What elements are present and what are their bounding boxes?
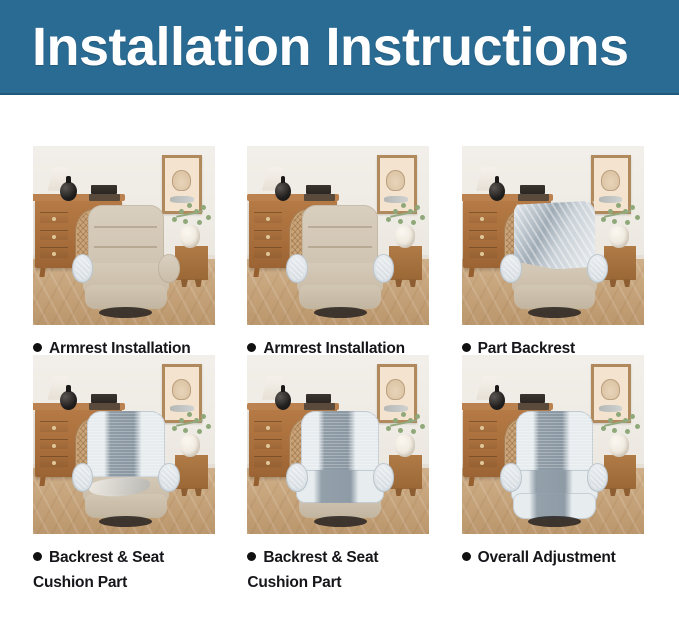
step-cell-5: Backrest & Seat Cushion Part [232,340,446,592]
chair-armrest-left [500,254,521,283]
chair-armrest-right [158,463,179,492]
chair-armrest-left [72,254,93,283]
drawer [40,439,68,450]
side-table [389,246,422,280]
room-scene [462,146,644,325]
drawer [40,247,68,258]
steps-grid: Armrest Installation [0,97,679,637]
room-scene [33,355,215,534]
book-stack [89,394,120,410]
seat-cushion-cover [296,470,384,503]
drawer [254,456,282,467]
drawer [40,456,68,467]
chair-base [514,285,596,309]
side-table [604,455,637,489]
drawer [40,421,68,432]
book-stack [89,185,120,201]
step-image-6 [462,355,644,534]
chair-armrest-right [587,463,608,492]
step-image-4 [33,355,215,534]
recliner-chair [289,414,391,525]
black-vase [60,182,76,202]
chair-armrest-right [158,254,179,283]
book-stack [518,394,549,410]
step-image-5 [247,355,429,534]
step-image-2 [247,146,429,325]
side-table [175,246,208,280]
backrest-cover [516,411,593,478]
backrest-cover [301,411,378,478]
chair-armrest-left [286,254,307,283]
chair-base [85,494,167,518]
step-cell-4: Backrest & Seat Cushion Part [18,340,232,592]
room-scene [247,146,429,325]
chair-armrest-right [373,254,394,283]
header-banner: Installation Instructions [0,0,679,95]
room-scene [33,146,215,325]
step-caption-text: Backrest & Seat Cushion Part [33,549,164,591]
step-cell-2: Armrest Installation [232,97,446,340]
step-caption-text: Backrest & Seat Cushion Part [247,549,378,591]
black-vase [60,391,76,411]
step-cell-1: Armrest Installation [18,97,232,340]
side-table [604,246,637,280]
recliner-chair [75,414,177,525]
page-title: Installation Instructions [0,20,629,74]
room-scene [462,355,644,534]
step-image-3 [462,146,644,325]
step-caption-4: Backrest & Seat Cushion Part [33,545,217,595]
step-caption-6: Overall Adjustment [462,545,646,570]
chair-base [85,285,167,309]
drawer [469,421,497,432]
drawer [469,439,497,450]
backrest-cover [87,411,164,478]
chair-armrest-right [373,463,394,492]
chair-armrest-left [72,463,93,492]
side-table [389,455,422,489]
drawer [254,212,282,223]
drawer [254,247,282,258]
drawer [469,247,497,258]
recliner-chair [75,205,177,316]
book-stack [304,394,335,410]
recliner-chair [504,414,606,525]
drawer [254,421,282,432]
drawer [40,230,68,241]
drawer [469,456,497,467]
bullet-icon [33,552,42,561]
drawer [40,212,68,223]
drawer [254,439,282,450]
drawer [254,230,282,241]
chair-backrest [88,205,163,269]
step-caption-5: Backrest & Seat Cushion Part [247,545,431,595]
drawer [469,212,497,223]
recliner-chair [289,205,391,316]
chair-backrest [302,205,377,269]
step-image-1 [33,146,215,325]
book-stack [304,185,335,201]
step-cell-3: Part Backrest [447,97,661,340]
chair-base [299,285,381,309]
step-caption-text: Overall Adjustment [478,549,616,566]
chair-armrest-left [286,463,307,492]
recliner-chair [504,205,606,316]
bullet-icon [462,552,471,561]
drawer [469,230,497,241]
bullet-icon [247,552,256,561]
side-table [175,455,208,489]
book-stack [518,185,549,201]
step-cell-6: Overall Adjustment [447,340,661,592]
chair-armrest-right [587,254,608,283]
backrest-cover-draped [514,201,596,270]
installation-instructions-page: Installation Instructions [0,0,679,637]
room-scene [247,355,429,534]
chair-armrest-left [500,463,521,492]
